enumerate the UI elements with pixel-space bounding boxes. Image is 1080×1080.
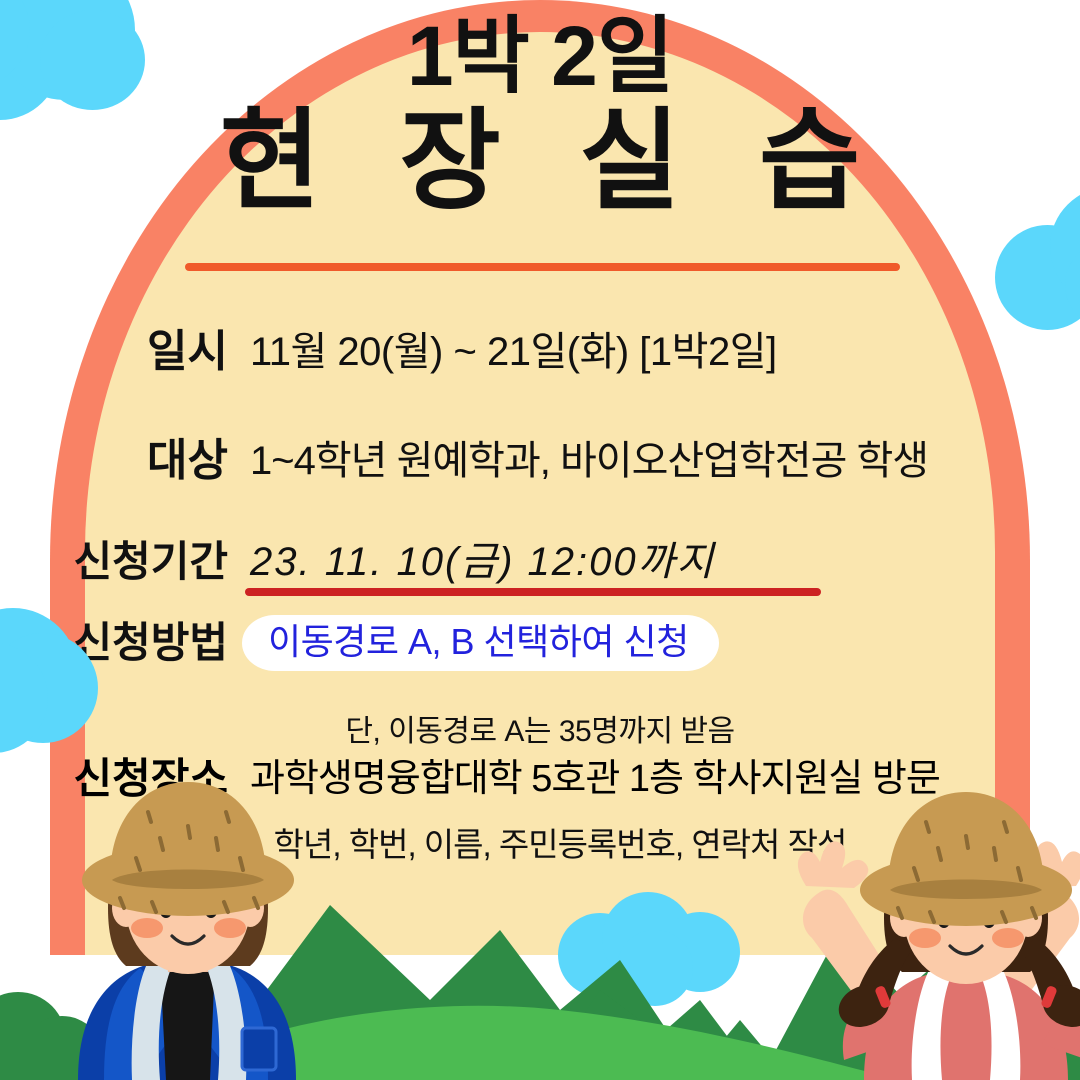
label-target: 대상 bbox=[0, 439, 228, 483]
label-period: 신청기간 bbox=[0, 541, 228, 583]
place-note: 학년, 학번, 이름, 주민등록번호, 연락처 작성 bbox=[0, 818, 1080, 866]
label-date: 일시 bbox=[0, 330, 228, 374]
bush-left bbox=[0, 992, 110, 1080]
value-method-highlight: 이동경로 A, B 선택하여 신청 bbox=[242, 615, 719, 671]
period-red-underline bbox=[245, 588, 821, 596]
title-line-2: 현 장 실 습 bbox=[0, 104, 1080, 220]
value-place: 과학생명융합대학 5호관 1층 학사지원실 방문 bbox=[228, 760, 940, 798]
poster-canvas: 1박 2일 현 장 실 습 일시 11월 20(월) ~ 21일(화) [1박2… bbox=[0, 0, 1080, 1080]
hill-mid bbox=[150, 1006, 900, 1080]
info-list: 일시 11월 20(월) ~ 21일(화) [1박2일] 대상 1~4학년 원예… bbox=[0, 296, 1080, 676]
title-line-1: 1박 2일 bbox=[0, 14, 1080, 98]
title-divider bbox=[185, 263, 900, 271]
info-row-method: 신청방법 이동경로 A, B 선택하여 신청 bbox=[0, 610, 1080, 676]
method-note: 단, 이동경로 A는 35명까지 받음 bbox=[0, 706, 1080, 750]
bush-right bbox=[954, 994, 1080, 1080]
poster-title: 1박 2일 현 장 실 습 bbox=[0, 14, 1080, 220]
cloud-mid-left bbox=[0, 608, 108, 768]
info-row-place: 신청장소 과학생명융합대학 5호관 1층 학사지원실 방문 bbox=[0, 758, 1080, 800]
value-date: 11월 20(월) ~ 21일(화) [1박2일] bbox=[228, 332, 777, 372]
value-method-wrap: 이동경로 A, B 선택하여 신청 bbox=[228, 615, 719, 671]
value-target: 1~4학년 원예학과, 바이오산업학전공 학생 bbox=[228, 441, 928, 481]
value-period: 23. 11. 10(금) 12:00까지 bbox=[228, 542, 715, 582]
info-row-date: 일시 11월 20(월) ~ 21일(화) [1박2일] bbox=[0, 296, 1080, 408]
info-row-target: 대상 1~4학년 원예학과, 바이오산업학전공 학생 bbox=[0, 408, 1080, 514]
